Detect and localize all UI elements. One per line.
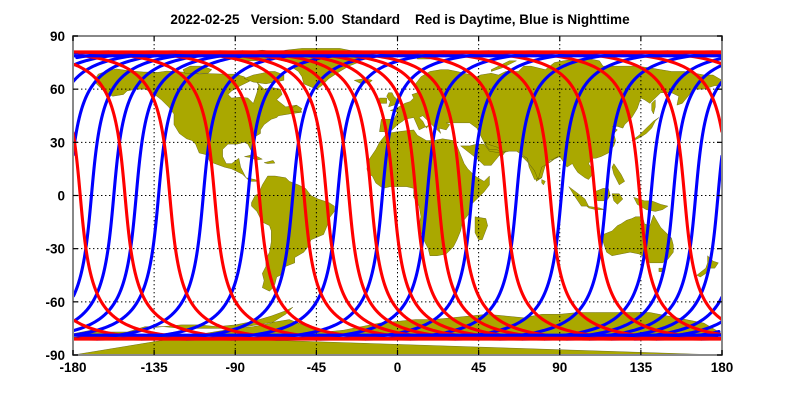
x-tick-label: 135 <box>630 360 653 375</box>
y-tick-label: 0 <box>57 189 65 204</box>
y-tick-label: -60 <box>45 295 65 310</box>
land-ireland <box>379 98 386 103</box>
x-axis-tick-labels: -180-135-90-4504590135180 <box>59 360 733 375</box>
x-tick-label: 90 <box>552 360 567 375</box>
y-tick-label: -90 <box>45 348 65 363</box>
x-tick-label: -90 <box>225 360 245 375</box>
x-tick-label: 0 <box>394 360 402 375</box>
x-tick-label: 45 <box>471 360 487 375</box>
x-tick-label: -135 <box>141 360 169 375</box>
x-tick-label: -45 <box>307 360 327 375</box>
ground-track-figure: 2022-02-25 Version: 5.00 Standard Red is… <box>0 0 800 400</box>
y-tick-label: 90 <box>50 29 65 44</box>
x-tick-label: 180 <box>711 360 734 375</box>
y-tick-label: -30 <box>45 242 65 257</box>
y-tick-label: 60 <box>50 82 65 97</box>
plot-area <box>73 36 722 355</box>
page-title: 2022-02-25 Version: 5.00 Standard Red is… <box>170 12 630 27</box>
y-tick-label: 30 <box>50 135 65 150</box>
